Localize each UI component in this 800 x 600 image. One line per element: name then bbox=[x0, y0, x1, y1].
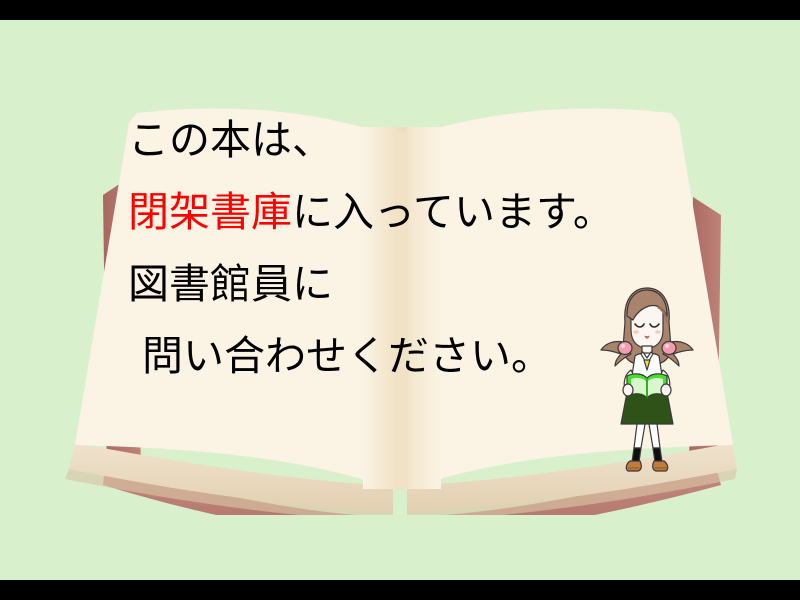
mouth bbox=[645, 336, 649, 338]
message-line-1-text: この本は、 bbox=[128, 116, 333, 164]
shoe-left bbox=[626, 461, 641, 471]
ankle-sock-left bbox=[632, 448, 641, 462]
message-line-1: この本は、 bbox=[128, 120, 688, 192]
held-book bbox=[627, 374, 667, 398]
hand-left bbox=[623, 384, 633, 396]
hand-right bbox=[661, 384, 671, 396]
message-line-4-text: 問い合わせください。 bbox=[142, 332, 552, 380]
message-line-3-text: 図書館員に bbox=[128, 260, 333, 308]
girl-reading-book-illustration bbox=[597, 282, 697, 474]
message-line-2-rest: に入っています。 bbox=[292, 188, 614, 236]
leg-right bbox=[649, 424, 660, 448]
letterbox-bar-top bbox=[0, 0, 800, 20]
hair-tie-left bbox=[618, 342, 632, 355]
letterbox-bar-bottom bbox=[0, 580, 800, 600]
slide-canvas: この本は、 閉架書庫に入っています。 図書館員に 問い合わせください。 bbox=[0, 20, 800, 580]
hair-tie-right bbox=[662, 342, 676, 355]
slide-stage: この本は、 閉架書庫に入っています。 図書館員に 問い合わせください。 bbox=[0, 0, 800, 600]
leg-left bbox=[634, 424, 645, 448]
hair-tie-left-shine bbox=[621, 344, 625, 348]
blush-left bbox=[633, 330, 639, 334]
message-line-2: 閉架書庫に入っています。 bbox=[128, 192, 688, 264]
shoe-right bbox=[653, 461, 668, 471]
ankle-sock-right bbox=[653, 448, 662, 462]
hair-tie-right-shine bbox=[665, 344, 669, 348]
blush-right bbox=[655, 330, 661, 334]
message-line-2-highlight: 閉架書庫 bbox=[128, 188, 292, 236]
